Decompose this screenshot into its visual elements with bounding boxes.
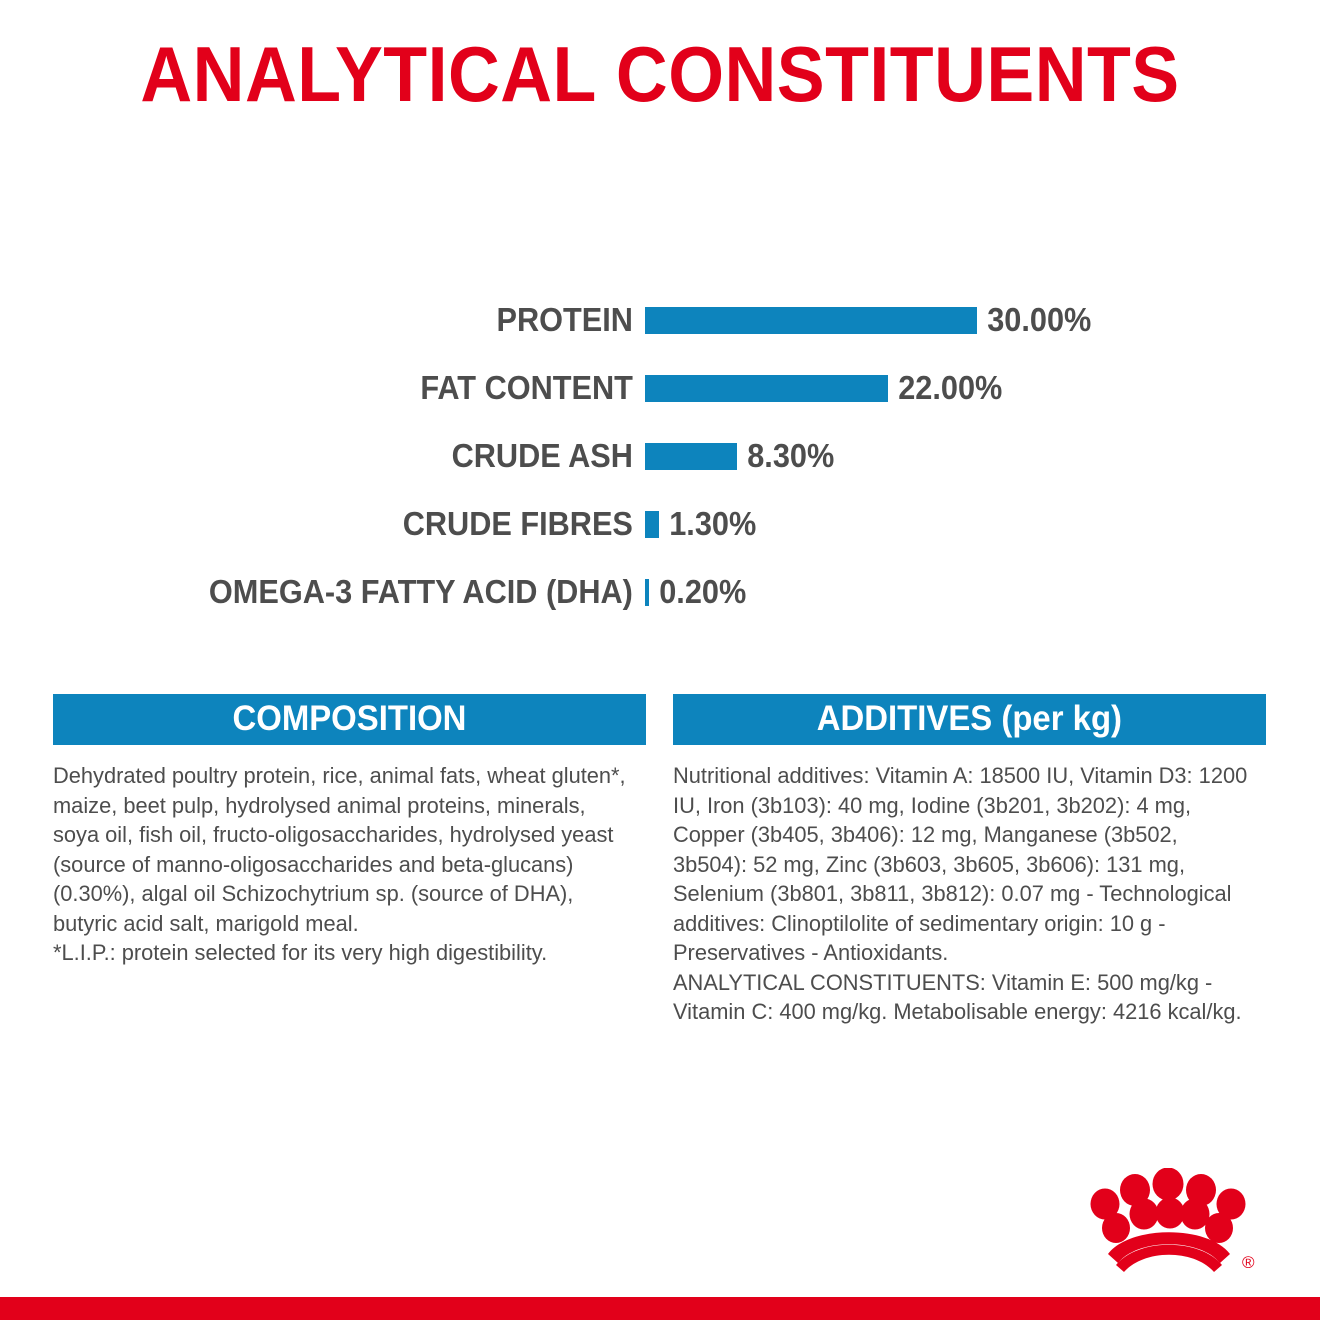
- chart-value-omega-3-fatty-acid-dha: 0.20%: [649, 573, 746, 611]
- chart-row-fat-content: FAT CONTENT 22.00%: [0, 354, 1320, 422]
- chart-row-crude-fibres: CRUDE FIBRES 1.30%: [0, 490, 1320, 558]
- chart-barwrap-crude-fibres: 1.30%: [645, 505, 1320, 543]
- chart-value-protein: 30.00%: [977, 301, 1091, 339]
- bottom-red-stripe: [0, 1297, 1320, 1320]
- panel-header-additives-label: ADDITIVES (per kg): [817, 699, 1122, 739]
- chart-bar-crude-ash: [645, 443, 737, 470]
- chart-bar-protein: [645, 307, 977, 334]
- chart-label-protein: PROTEIN: [45, 301, 645, 339]
- panel-header-composition: COMPOSITION: [53, 694, 646, 745]
- chart-barwrap-fat-content: 22.00%: [645, 369, 1320, 407]
- panel-composition: COMPOSITION Dehydrated poultry protein, …: [53, 694, 646, 1027]
- svg-text:®: ®: [1242, 1253, 1255, 1272]
- panel-header-additives: ADDITIVES (per kg): [673, 694, 1266, 745]
- chart-row-protein: PROTEIN 30.00%: [0, 286, 1320, 354]
- chart-value-crude-fibres: 1.30%: [659, 505, 756, 543]
- chart-value-crude-ash: 8.30%: [737, 437, 834, 475]
- panel-body-additives: Nutritional additives: Vitamin A: 18500 …: [673, 745, 1248, 1027]
- info-panels: COMPOSITION Dehydrated poultry protein, …: [53, 694, 1267, 1027]
- page-title: ANALYTICAL CONSTITUENTS: [53, 34, 1267, 116]
- chart-barwrap-crude-ash: 8.30%: [645, 437, 1320, 475]
- chart-bar-crude-fibres: [645, 511, 659, 538]
- chart-label-omega-3-fatty-acid-dha: OMEGA-3 FATTY ACID (DHA): [45, 573, 645, 611]
- chart-bar-fat-content: [645, 375, 888, 402]
- panel-header-composition-label: COMPOSITION: [233, 699, 467, 739]
- chart-label-fat-content: FAT CONTENT: [45, 369, 645, 407]
- chart-barwrap-omega-3-fatty-acid-dha: 0.20%: [645, 573, 1320, 611]
- chart-barwrap-protein: 30.00%: [645, 301, 1320, 339]
- chart-label-crude-fibres: CRUDE FIBRES: [45, 505, 645, 543]
- chart-row-omega-3-fatty-acid-dha: OMEGA-3 FATTY ACID (DHA) 0.20%: [0, 558, 1320, 626]
- analytical-constituents-chart: PROTEIN 30.00% FAT CONTENT 22.00% CRUDE …: [0, 286, 1320, 626]
- panel-additives: ADDITIVES (per kg) Nutritional additives…: [673, 694, 1266, 1027]
- chart-row-crude-ash: CRUDE ASH 8.30%: [0, 422, 1320, 490]
- chart-label-crude-ash: CRUDE ASH: [45, 437, 645, 475]
- royal-canin-crown-logo: ®: [1090, 1168, 1260, 1280]
- panel-body-composition: Dehydrated poultry protein, rice, animal…: [53, 745, 628, 968]
- chart-value-fat-content: 22.00%: [888, 369, 1002, 407]
